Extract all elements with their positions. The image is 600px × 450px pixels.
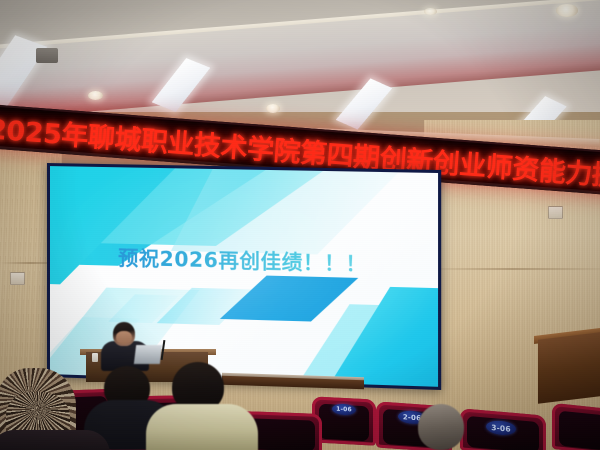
ceiling-downlight [88, 91, 103, 100]
auditorium-seat [552, 403, 600, 450]
conference-hall-photo: 2025年聊城职业技术学院第四期创新创业师资能力提升培训班 预祝2026再创佳绩… [0, 0, 600, 450]
audience-shoulders [0, 430, 110, 450]
presenter-face [116, 331, 132, 344]
ceiling-downlight [266, 104, 280, 113]
slide-headline: 预祝2026再创佳绩！！！ [50, 240, 438, 279]
wall-seam [424, 268, 600, 270]
audience-shoulders [146, 404, 258, 450]
audience-head [418, 404, 464, 450]
auditorium-seat: 3-06 [460, 408, 546, 450]
presenter-laptop [134, 345, 162, 364]
ceiling-downlight [556, 4, 578, 17]
side-desk [538, 332, 600, 404]
water-cup [92, 353, 98, 362]
ceiling-downlight [424, 8, 437, 15]
seat-frame [552, 403, 600, 450]
ceiling-vent-grille [36, 48, 58, 63]
wall-outlet [10, 272, 25, 285]
wall-outlet [548, 206, 563, 219]
